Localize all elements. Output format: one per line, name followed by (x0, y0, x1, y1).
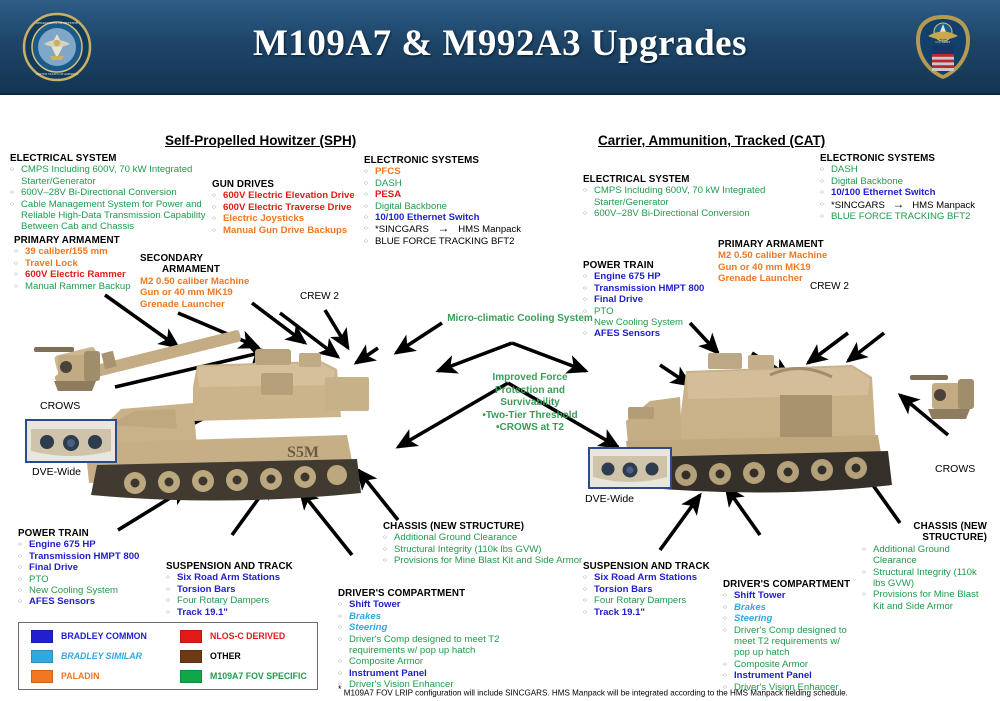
cat-power-train-block: POWER TRAIN Engine 675 HP Transmission H… (583, 260, 743, 340)
legend-label: BRADLEY COMMON (61, 631, 147, 641)
block-heading: POWER TRAIN (583, 260, 743, 271)
sph-section-title: Self-Propelled Howitzer (SPH) (165, 133, 356, 148)
list-item: DASH (820, 164, 1000, 175)
list-item: PESA (364, 189, 564, 200)
list-item: Steering (723, 613, 853, 624)
cat-electrical-system-block: ELECTRICAL SYSTEM CMPS Including 600V, 7… (583, 174, 798, 220)
cat-section-title: Carrier, Ammunition, Tracked (CAT) (598, 133, 825, 148)
page-title: M109A7 & M992A3 Upgrades (0, 22, 1000, 65)
block-heading-line2: ARMAMENT (140, 264, 260, 275)
block-list: DASH Digital Backbone 10/100 Ethernet Sw… (820, 164, 1000, 222)
legend-swatch-bradley-common (31, 630, 53, 643)
list-item-sincgars: *SINCGARS → HMS Manpack (364, 223, 564, 235)
block-list: Additional Ground Clearance Structural I… (862, 544, 987, 612)
block-heading: GUN DRIVES (212, 179, 362, 190)
list-item: Brakes (723, 602, 853, 613)
list-item: Manual Gun Drive Backups (212, 225, 362, 236)
list-item: New Cooling System (583, 317, 743, 328)
sph-crows-image (30, 335, 112, 397)
block-heading: PRIMARY ARMAMENT (718, 239, 838, 250)
block-heading: SUSPENSION AND TRACK (583, 561, 728, 572)
footnote: * M109A7 FOV LRIP configuration will inc… (338, 684, 998, 698)
legend-swatch-m109a7-fov-specific (180, 670, 202, 683)
list-item: AFES Sensors (18, 596, 178, 607)
note-line-2: Protection and (455, 385, 605, 398)
block-heading: PRIMARY ARMAMENT (14, 235, 174, 246)
legend-swatch-paladin (31, 670, 53, 683)
sincgars-label: *SINCGARS (831, 200, 885, 211)
sph-gun-drives-block: GUN DRIVES 600V Electric Elevation Drive… (212, 179, 362, 236)
legend-item: BRADLEY SIMILAR (31, 646, 168, 666)
list-item: Torsion Bars (583, 584, 728, 595)
block-heading: ELECTRONIC SYSTEMS (364, 155, 564, 166)
right-arrow-icon: → (432, 221, 456, 235)
list-item: Provisions for Mine Blast Kit and Side A… (383, 555, 583, 566)
list-item: 10/100 Ethernet Switch (820, 187, 1000, 198)
sph-chassis-block: CHASSIS (NEW STRUCTURE) Additional Groun… (383, 521, 583, 567)
hms-manpack-label: HMS Manpack (912, 200, 975, 211)
legend-swatch-other (180, 650, 202, 663)
legend-label: M109A7 FOV SPECIFIC (210, 671, 307, 681)
improved-force-protection-note: Improved Force Protection and Survivabil… (455, 372, 605, 435)
list-item: Track 19.1" (166, 607, 311, 618)
secondary-armament-text: M2 0.50 caliber Machine Gun or 40 mm MK1… (140, 276, 260, 310)
block-heading: ELECTRICAL SYSTEM (10, 153, 215, 164)
list-item: Engine 675 HP (18, 539, 178, 550)
block-list: Six Road Arm Stations Torsion Bars Four … (166, 572, 311, 618)
sph-electronic-systems-block: ELECTRONIC SYSTEMS PFCS DASH PESA Digita… (364, 155, 564, 247)
list-item: DASH (364, 178, 564, 189)
list-item: Engine 675 HP (583, 271, 743, 282)
list-item: Transmission HMPT 800 (583, 283, 743, 294)
list-item: Final Drive (583, 294, 743, 305)
note-line-4: •Two-Tier Threshold (455, 410, 605, 423)
list-item: 10/100 Ethernet Switch (364, 212, 564, 223)
color-legend: BRADLEY COMMON BRADLEY SIMILAR PALADIN N… (18, 622, 318, 690)
block-list: Additional Ground Clearance Structural I… (383, 532, 583, 566)
legend-column-left: BRADLEY COMMON BRADLEY SIMILAR PALADIN (19, 626, 168, 686)
sph-drivers-compartment-block: DRIVER'S COMPARTMENT Shift Tower Brakes … (338, 588, 553, 691)
block-heading: DRIVER'S COMPARTMENT (338, 588, 553, 599)
sph-electrical-system-block: ELECTRICAL SYSTEM CMPS Including 600V, 7… (10, 153, 215, 233)
note-line-3: Survivability (455, 397, 605, 410)
legend-swatch-bradley-similar (31, 650, 53, 663)
list-item: Cable Management System for Power and Re… (10, 199, 215, 233)
legend-label: OTHER (210, 651, 241, 661)
block-heading: DRIVER'S COMPARTMENT (723, 579, 853, 590)
list-item: PTO (583, 306, 743, 317)
list-item: Electric Joysticks (212, 213, 362, 224)
cat-electronic-systems-block: ELECTRONIC SYSTEMS DASH Digital Backbone… (820, 153, 1000, 222)
right-arrow-icon: → (888, 197, 910, 211)
list-item: Provisions for Mine Blast Kit and Side A… (862, 589, 987, 612)
list-item: Additional Ground Clearance (383, 532, 583, 543)
list-item: BLUE FORCE TRACKING BFT2 (364, 236, 564, 247)
sph-secondary-armament-block: SECONDARY ARMAMENT M2 0.50 caliber Machi… (140, 253, 260, 310)
block-heading: ELECTRICAL SYSTEM (583, 174, 798, 185)
cat-crows-caption: CROWS (935, 463, 975, 475)
cat-drivers-compartment-block: DRIVER'S COMPARTMENT Shift Tower Brakes … (723, 579, 853, 693)
list-item: Driver's Comp designed to meet T2 requir… (338, 634, 553, 657)
legend-label: NLOS-C DERIVED (210, 631, 285, 641)
svg-text:S5M: S5M (287, 444, 319, 461)
list-item: Composite Armor (723, 659, 853, 670)
list-item: 600V Electric Traverse Drive (212, 202, 362, 213)
legend-column-right: NLOS-C DERIVED OTHER M109A7 FOV SPECIFIC (168, 626, 317, 686)
block-list: CMPS Including 600V, 70 kW Integrated St… (10, 164, 215, 232)
sincgars-label: *SINCGARS (375, 224, 429, 235)
cat-crew-label: CREW 2 (810, 281, 849, 292)
cat-suspension-block: SUSPENSION AND TRACK Six Road Arm Statio… (583, 561, 728, 618)
block-list: Six Road Arm Stations Torsion Bars Four … (583, 572, 728, 618)
footnote-star: * (338, 684, 342, 694)
hms-manpack-label: HMS Manpack (458, 224, 521, 235)
list-item: 600V Electric Elevation Drive (212, 190, 362, 201)
list-item: Additional Ground Clearance (862, 544, 987, 567)
list-item: Final Drive (18, 562, 178, 573)
list-item: Structural Integrity (110k lbs GVW) (862, 567, 987, 590)
list-item: Instrument Panel (723, 670, 853, 681)
sph-crows-caption: CROWS (40, 400, 80, 412)
list-item: Instrument Panel (338, 668, 553, 679)
list-item: Driver's Comp designed to meet T2 requir… (723, 625, 853, 659)
block-heading: ELECTRONIC SYSTEMS (820, 153, 1000, 164)
legend-item: PALADIN (31, 666, 168, 686)
note-line-1: Improved Force (455, 372, 605, 385)
sph-suspension-block: SUSPENSION AND TRACK Six Road Arm Statio… (166, 561, 311, 618)
legend-swatch-nlos-c-derived (180, 630, 202, 643)
list-item: Digital Backbone (364, 201, 564, 212)
list-item: CMPS Including 600V, 70 kW Integrated St… (10, 164, 215, 187)
list-item: New Cooling System (18, 585, 178, 596)
list-item: CMPS Including 600V, 70 kW Integrated St… (583, 185, 798, 208)
list-item: Torsion Bars (166, 584, 311, 595)
legend-item: M109A7 FOV SPECIFIC (180, 666, 317, 686)
sph-dve-caption: DVE-Wide (32, 466, 81, 478)
list-item: AFES Sensors (583, 328, 743, 339)
footnote-text: M109A7 FOV LRIP configuration will inclu… (344, 689, 848, 698)
block-list: CMPS Including 600V, 70 kW Integrated St… (583, 185, 798, 219)
list-item: 600V–28V Bi-Directional Conversion (583, 208, 798, 219)
title-banner: DEPARTMENT OF DEFENSE UNITED STATES OF A… (0, 0, 1000, 95)
legend-label: PALADIN (61, 671, 99, 681)
list-item: Shift Tower (338, 599, 553, 610)
sph-power-train-block: POWER TRAIN Engine 675 HP Transmission H… (18, 528, 178, 608)
list-item: Four Rotary Dampers (583, 595, 728, 606)
list-item: PTO (18, 574, 178, 585)
block-list: Shift Tower Brakes Steering Driver's Com… (338, 599, 553, 690)
list-item: Composite Armor (338, 656, 553, 667)
sph-crew-label: CREW 2 (300, 291, 339, 302)
list-item: BLUE FORCE TRACKING BFT2 (820, 211, 1000, 222)
sph-dve-wide-image (25, 419, 117, 463)
list-item: Steering (338, 622, 553, 633)
list-item: Six Road Arm Stations (166, 572, 311, 583)
list-item: Shift Tower (723, 590, 853, 601)
block-heading-line1: SECONDARY (140, 253, 260, 264)
list-item: PFCS (364, 166, 564, 177)
cat-chassis-block: CHASSIS (NEW STRUCTURE) Additional Groun… (862, 521, 987, 612)
legend-label: BRADLEY SIMILAR (61, 651, 142, 661)
list-item: Digital Backbone (820, 176, 1000, 187)
svg-text:U.S. ARMY: U.S. ARMY (936, 40, 952, 44)
list-item: Transmission HMPT 800 (18, 551, 178, 562)
block-list: 600V Electric Elevation Drive 600V Elect… (212, 190, 362, 236)
cat-dve-wide-image (588, 447, 672, 489)
block-heading: CHASSIS (NEW STRUCTURE) (383, 521, 583, 532)
list-item: Four Rotary Dampers (166, 595, 311, 606)
list-item: 600V–28V Bi-Directional Conversion (10, 187, 215, 198)
block-list: PFCS DASH PESA Digital Backbone 10/100 E… (364, 166, 564, 247)
block-heading-line2: STRUCTURE) (862, 532, 987, 543)
block-heading-line1: CHASSIS (NEW (862, 521, 987, 532)
list-item-sincgars: *SINCGARS → HMS Manpack (820, 199, 1000, 211)
note-line-5: •CROWS at T2 (455, 422, 605, 435)
block-list: Shift Tower Brakes Steering Driver's Com… (723, 590, 853, 693)
list-item: Track 19.1" (583, 607, 728, 618)
list-item: Brakes (338, 611, 553, 622)
cat-crows-image (908, 363, 988, 425)
legend-item: OTHER (180, 646, 317, 666)
block-heading: SUSPENSION AND TRACK (166, 561, 311, 572)
svg-text:UNITED STATES OF AMERICA: UNITED STATES OF AMERICA (36, 72, 79, 76)
block-list: Engine 675 HP Transmission HMPT 800 Fina… (18, 539, 178, 607)
army-seal-icon: U.S. ARMY (908, 12, 978, 82)
legend-item: BRADLEY COMMON (31, 626, 168, 646)
legend-item: NLOS-C DERIVED (180, 626, 317, 646)
block-list: Engine 675 HP Transmission HMPT 800 Fina… (583, 271, 743, 339)
list-item: Structural Integrity (110k lbs GVW) (383, 544, 583, 555)
cat-dve-caption: DVE-Wide (585, 493, 634, 505)
block-heading: POWER TRAIN (18, 528, 178, 539)
list-item: Six Road Arm Stations (583, 572, 728, 583)
